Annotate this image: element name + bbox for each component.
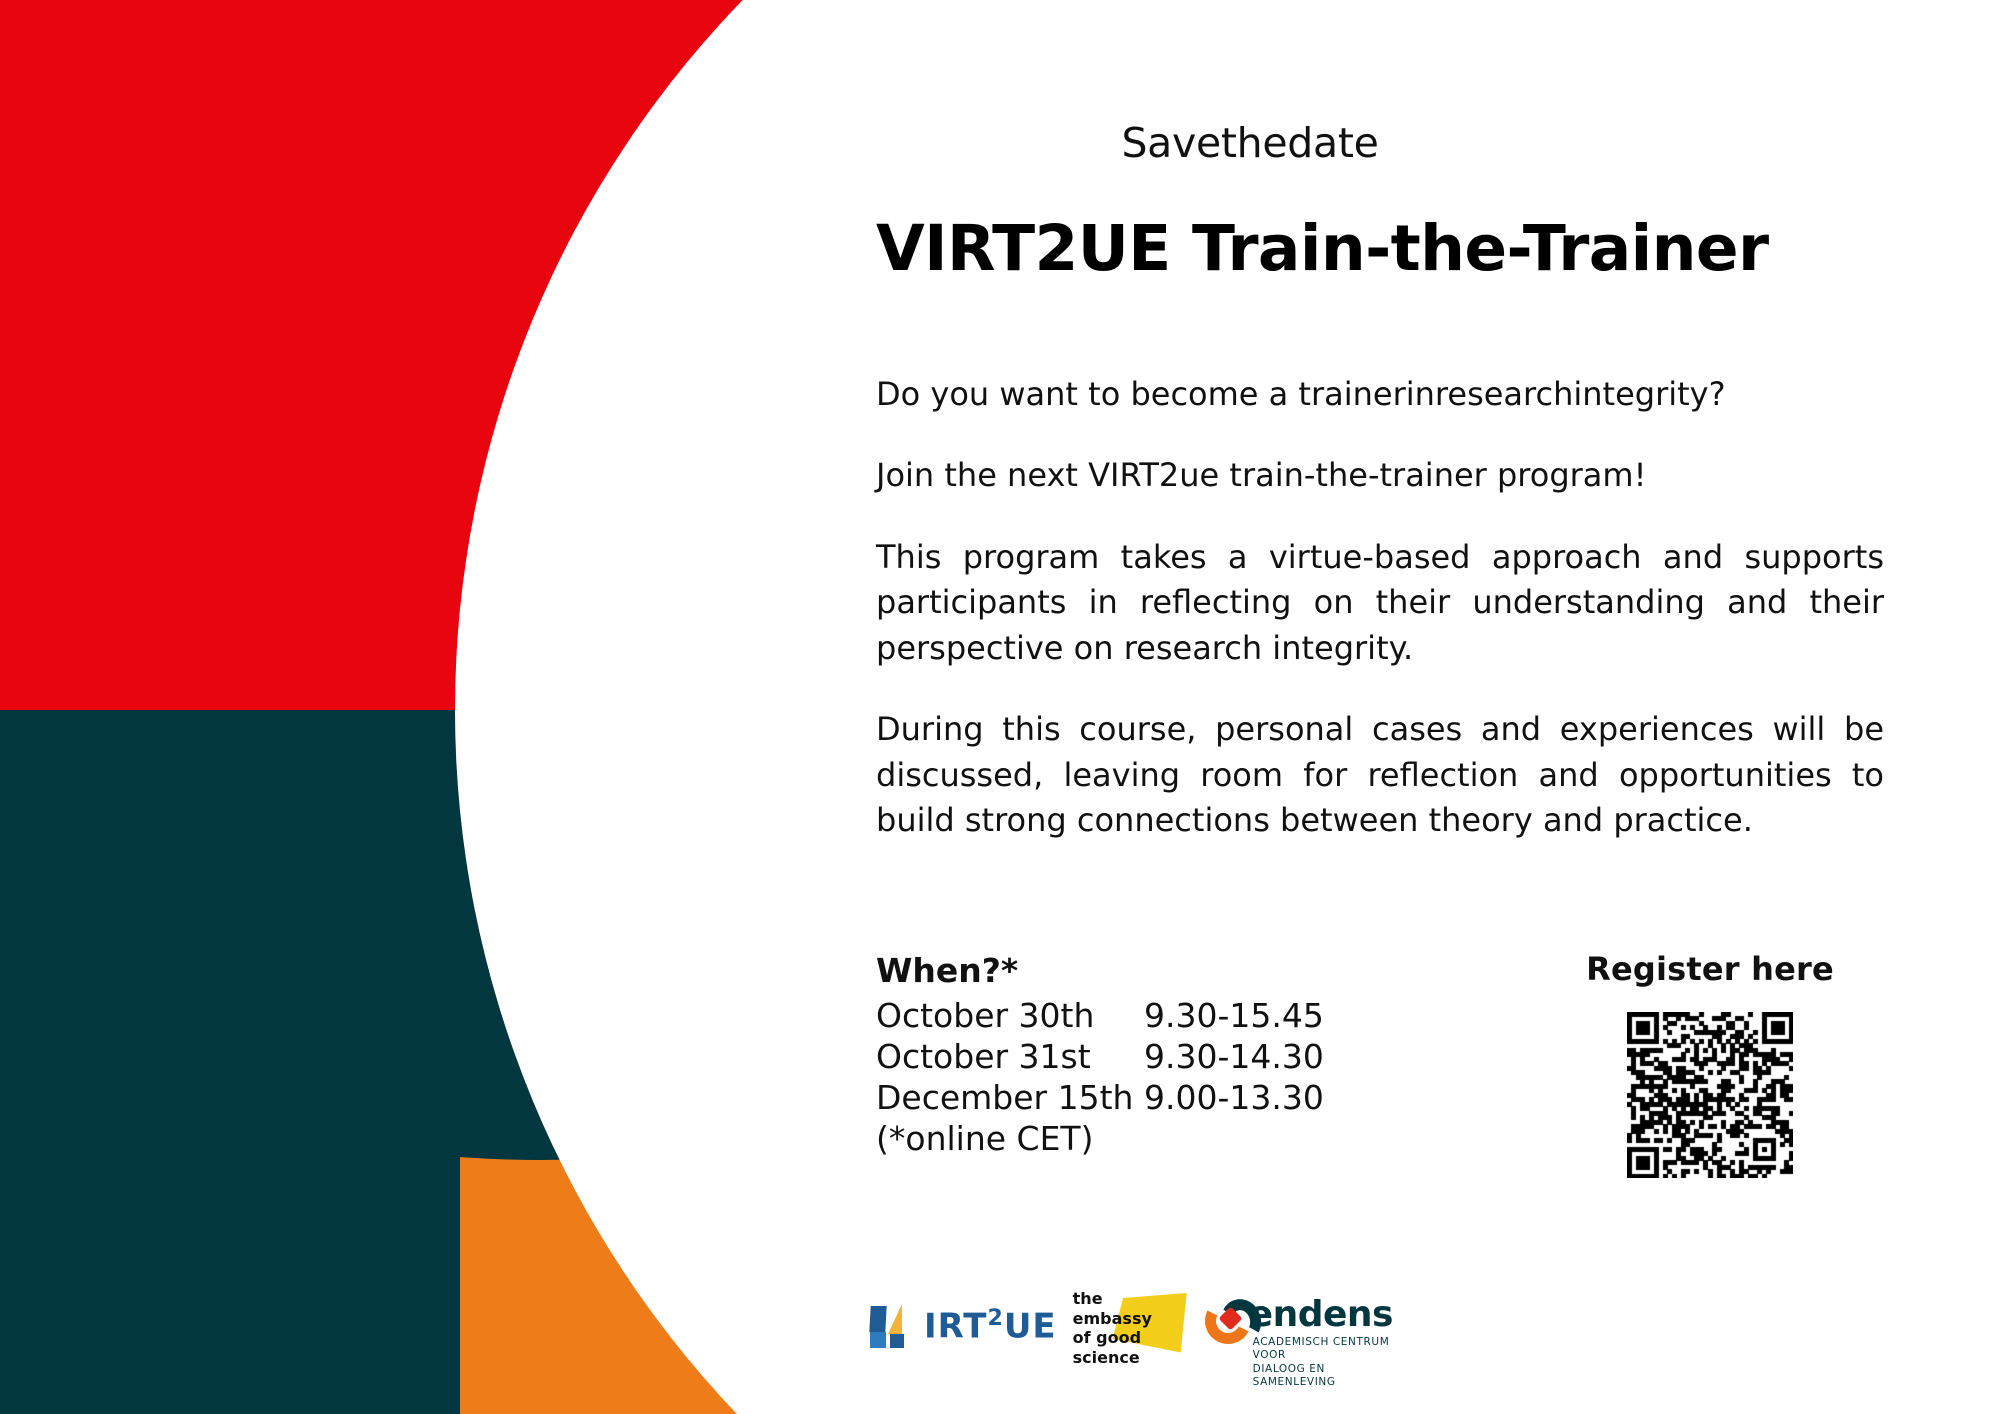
schedule-date: October 31st xyxy=(876,1038,1144,1077)
virt2ue-logo: IRT2UE xyxy=(870,1304,1057,1348)
schedule-date: December 15th xyxy=(876,1079,1144,1118)
virt2ue-wordmark: IRT2UE xyxy=(924,1306,1057,1346)
poster-canvas: Savethedate VIRT2UE Train-the-Trainer Do… xyxy=(0,0,2000,1414)
embassy-line-4: science xyxy=(1073,1348,1152,1368)
qr-code-icon[interactable] xyxy=(1627,1012,1793,1178)
schedule-row: October 30th 9.30-15.45 xyxy=(876,997,1396,1036)
xendens-logo: endens ACADEMISCH CENTRUM VOOR DIALOOG E… xyxy=(1205,1286,1405,1366)
paragraph-approach: This program takes a virtue-based approa… xyxy=(876,535,1884,671)
virt2ue-wordmark-tail: UE xyxy=(1004,1306,1057,1346)
embassy-line-1: the xyxy=(1073,1289,1152,1309)
paragraph-course: During this course, personal cases and e… xyxy=(876,707,1884,843)
save-the-date-kicker: Savethedate xyxy=(880,120,1620,167)
paragraph-join: Join the next VIRT2ue train-the-trainer … xyxy=(876,453,1884,498)
schedule-heading: When?* xyxy=(876,952,1396,991)
qr-code-wrapper[interactable] xyxy=(1510,1012,1910,1178)
virt2ue-wordmark-main: IRT xyxy=(924,1306,988,1346)
virt2ue-mark-icon xyxy=(870,1304,916,1348)
register-heading: Register here xyxy=(1510,950,1910,988)
embassy-wordmark: the embassy of good science xyxy=(1073,1289,1152,1367)
page-title: VIRT2UE Train-the-Trainer xyxy=(876,212,1906,285)
embassy-line-2: embassy xyxy=(1073,1309,1152,1329)
body-copy: Do you want to become a trainerinresearc… xyxy=(876,372,1884,844)
schedule-block: When?* October 30th 9.30-15.45 October 3… xyxy=(876,952,1396,1159)
xendens-tagline: ACADEMISCH CENTRUM VOOR DIALOOG EN SAMEN… xyxy=(1253,1336,1405,1390)
xendens-tagline-line-1: ACADEMISCH CENTRUM VOOR xyxy=(1253,1336,1405,1363)
schedule-note: (*online CET) xyxy=(876,1120,1396,1159)
paragraph-intro: Do you want to become a trainerinresearc… xyxy=(876,372,1884,417)
embassy-of-good-science-logo: the embassy of good science xyxy=(1073,1283,1189,1369)
poster-content: Savethedate VIRT2UE Train-the-Trainer Do… xyxy=(0,0,2000,1414)
schedule-row: December 15th 9.00-13.30 xyxy=(876,1079,1396,1118)
register-block: Register here xyxy=(1510,950,1910,1178)
xendens-tagline-line-2: DIALOOG EN SAMENLEVING xyxy=(1253,1363,1405,1390)
schedule-date: October 30th xyxy=(876,997,1144,1036)
schedule-time: 9.30-15.45 xyxy=(1144,997,1324,1036)
schedule-row: October 31st 9.30-14.30 xyxy=(876,1038,1396,1077)
schedule-time: 9.00-13.30 xyxy=(1144,1079,1324,1118)
xendens-wordmark: endens xyxy=(1249,1294,1393,1335)
virt2ue-wordmark-sup: 2 xyxy=(988,1306,1004,1331)
logo-strip: IRT2UE the embassy of good science xyxy=(870,1280,1410,1372)
schedule-time: 9.30-14.30 xyxy=(1144,1038,1324,1077)
embassy-line-3: of good xyxy=(1073,1328,1152,1348)
